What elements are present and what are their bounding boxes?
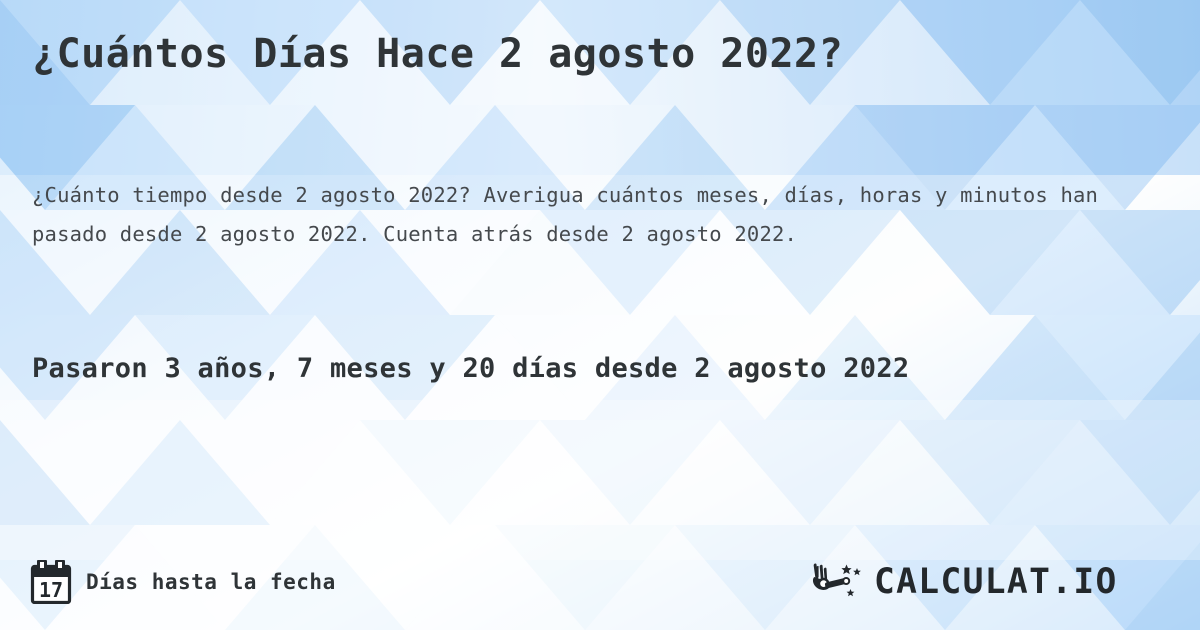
footer-category-label: Días hasta la fecha (86, 570, 336, 594)
brand-logo[interactable]: CALCULAT.IO (812, 561, 1174, 603)
calendar-day-number: 17 (39, 578, 63, 602)
brand-wordmark: CALCULAT.IO (874, 561, 1174, 603)
magic-wand-hand-icon (812, 561, 868, 603)
brand-name-text: CALCULAT.IO (874, 562, 1118, 602)
calendar-icon: 17 (30, 560, 72, 604)
card-footer: 17 Días hasta la fecha (0, 538, 1200, 630)
footer-category: 17 Días hasta la fecha (30, 560, 336, 604)
result-statement: Pasaron 3 años, 7 meses y 20 días desde … (32, 345, 1042, 393)
card-content: ¿Cuántos Días Hace 2 agosto 2022? ¿Cuánt… (0, 0, 1200, 630)
page-title: ¿Cuántos Días Hace 2 agosto 2022? (32, 30, 1168, 78)
share-card: ¿Cuántos Días Hace 2 agosto 2022? ¿Cuánt… (0, 0, 1200, 630)
page-description: ¿Cuánto tiempo desde 2 agosto 2022? Aver… (32, 176, 1182, 254)
brand-name-svg: CALCULAT.IO (874, 562, 1174, 602)
